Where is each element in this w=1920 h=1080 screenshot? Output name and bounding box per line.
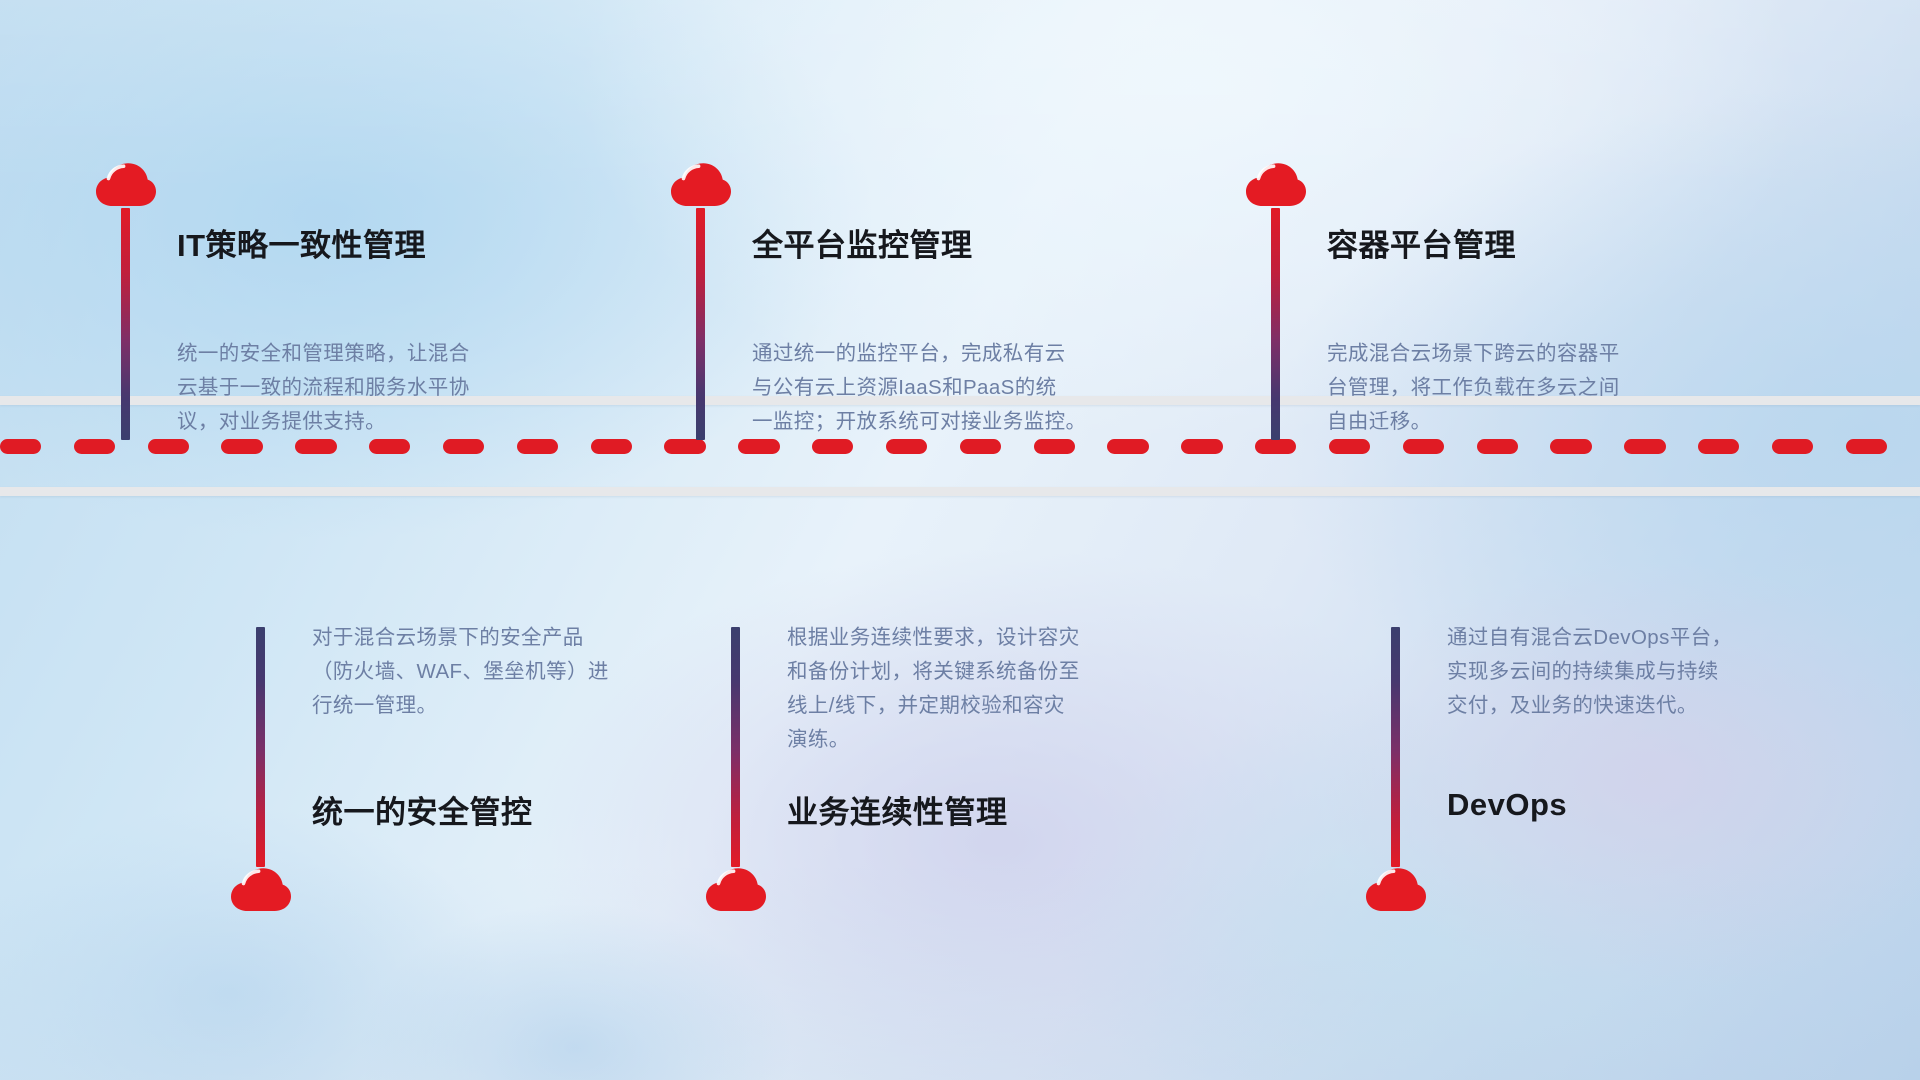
road-dash <box>148 439 189 454</box>
description-line: 通过自有混合云DevOps平台， <box>1447 621 1819 655</box>
description-line: 线上/线下，并定期校验和容灾 <box>787 689 1159 723</box>
road-dash <box>443 439 484 454</box>
feature-description: 统一的安全和管理策略，让混合 云基于一致的流程和服务水平协 议，对业务提供支持。 <box>177 337 549 439</box>
description-line: 自由迁移。 <box>1327 405 1699 439</box>
description-line: 台管理，将工作负载在多云之间 <box>1327 371 1699 405</box>
road-lane-bottom <box>0 487 1920 496</box>
cloud-icon <box>95 162 157 208</box>
road-dash <box>812 439 853 454</box>
road-dash <box>1846 439 1887 454</box>
feature-description: 根据业务连续性要求，设计容灾 和备份计划，将关键系统备份至 线上/线下，并定期校… <box>787 621 1159 757</box>
feature-column-business-continuity-management: 根据业务连续性要求，设计容灾 和备份计划，将关键系统备份至 线上/线下，并定期校… <box>732 627 767 913</box>
description-line: 统一的安全和管理策略，让混合 <box>177 337 549 371</box>
description-line: 完成混合云场景下跨云的容器平 <box>1327 337 1699 371</box>
feature-title: 统一的安全管控 <box>312 787 533 832</box>
road-dash <box>664 439 705 454</box>
connector-bar <box>696 208 705 440</box>
road-dash <box>1181 439 1222 454</box>
feature-title: DevOps <box>1447 787 1567 823</box>
connector-bar <box>256 627 265 867</box>
feature-description: 通过统一的监控平台，完成私有云 与公有云上资源IaaS和PaaS的统 一监控；开… <box>752 337 1124 439</box>
description-line: 通过统一的监控平台，完成私有云 <box>752 337 1124 371</box>
description-line: 和备份计划，将关键系统备份至 <box>787 655 1159 689</box>
feature-column-it-policy-consistency-management: IT策略一致性管理 统一的安全和管理策略，让混合 云基于一致的流程和服务水平协 … <box>122 162 157 440</box>
description-line: 一监控；开放系统可对接业务监控。 <box>752 405 1124 439</box>
connector-bar <box>1271 208 1280 440</box>
road-dash <box>886 439 927 454</box>
description-line: （防火墙、WAF、堡垒机等）进 <box>312 655 684 689</box>
road-dash <box>1477 439 1518 454</box>
description-line: 行统一管理。 <box>312 689 684 723</box>
description-line: 根据业务连续性要求，设计容灾 <box>787 621 1159 655</box>
description-line: 议，对业务提供支持。 <box>177 405 549 439</box>
feature-description: 完成混合云场景下跨云的容器平 台管理，将工作负载在多云之间 自由迁移。 <box>1327 337 1699 439</box>
road-dash <box>221 439 262 454</box>
road-dash <box>1772 439 1813 454</box>
background <box>0 0 1920 1080</box>
cloud-icon <box>1245 162 1307 208</box>
road-dash <box>1255 439 1296 454</box>
road-dash <box>738 439 779 454</box>
feature-column-unified-security-governance: 对于混合云场景下的安全产品 （防火墙、WAF、堡垒机等）进 行统一管理。 统一的… <box>257 627 292 913</box>
description-line: 云基于一致的流程和服务水平协 <box>177 371 549 405</box>
road-dash <box>1107 439 1148 454</box>
feature-column-container-platform-management: 容器平台管理 完成混合云场景下跨云的容器平 台管理，将工作负载在多云之间 自由迁… <box>1272 162 1307 440</box>
description-line: 演练。 <box>787 723 1159 757</box>
feature-column-devops: 通过自有混合云DevOps平台， 实现多云间的持续集成与持续 交付，及业务的快速… <box>1392 627 1427 913</box>
road-dash <box>1403 439 1444 454</box>
description-line: 与公有云上资源IaaS和PaaS的统 <box>752 371 1124 405</box>
road-dash <box>1550 439 1591 454</box>
connector-bar <box>731 627 740 867</box>
cloud-icon <box>670 162 732 208</box>
road-dash <box>1329 439 1370 454</box>
road-dash <box>1624 439 1665 454</box>
road-dash <box>1034 439 1075 454</box>
description-line: 交付，及业务的快速迭代。 <box>1447 689 1819 723</box>
road-dash <box>0 439 41 454</box>
feature-description: 通过自有混合云DevOps平台， 实现多云间的持续集成与持续 交付，及业务的快速… <box>1447 621 1819 723</box>
background-vignette <box>0 0 1920 1080</box>
road-center-dashes <box>0 438 1920 454</box>
cloud-icon <box>230 867 292 913</box>
feature-title: 全平台监控管理 <box>752 220 973 265</box>
feature-column-full-platform-monitoring-management: 全平台监控管理 通过统一的监控平台，完成私有云 与公有云上资源IaaS和PaaS… <box>697 162 732 440</box>
road-dash <box>295 439 336 454</box>
description-line: 实现多云间的持续集成与持续 <box>1447 655 1819 689</box>
feature-title: 容器平台管理 <box>1327 220 1516 265</box>
road-dash <box>591 439 632 454</box>
cloud-icon <box>705 867 767 913</box>
description-line: 对于混合云场景下的安全产品 <box>312 621 684 655</box>
road-dash <box>1698 439 1739 454</box>
road-dash <box>74 439 115 454</box>
connector-bar <box>121 208 130 440</box>
cloud-icon <box>1365 867 1427 913</box>
road-dash <box>517 439 558 454</box>
road-dash <box>960 439 1001 454</box>
feature-title: IT策略一致性管理 <box>177 220 426 265</box>
road-dash <box>369 439 410 454</box>
feature-description: 对于混合云场景下的安全产品 （防火墙、WAF、堡垒机等）进 行统一管理。 <box>312 621 684 723</box>
feature-title: 业务连续性管理 <box>787 787 1008 832</box>
connector-bar <box>1391 627 1400 867</box>
